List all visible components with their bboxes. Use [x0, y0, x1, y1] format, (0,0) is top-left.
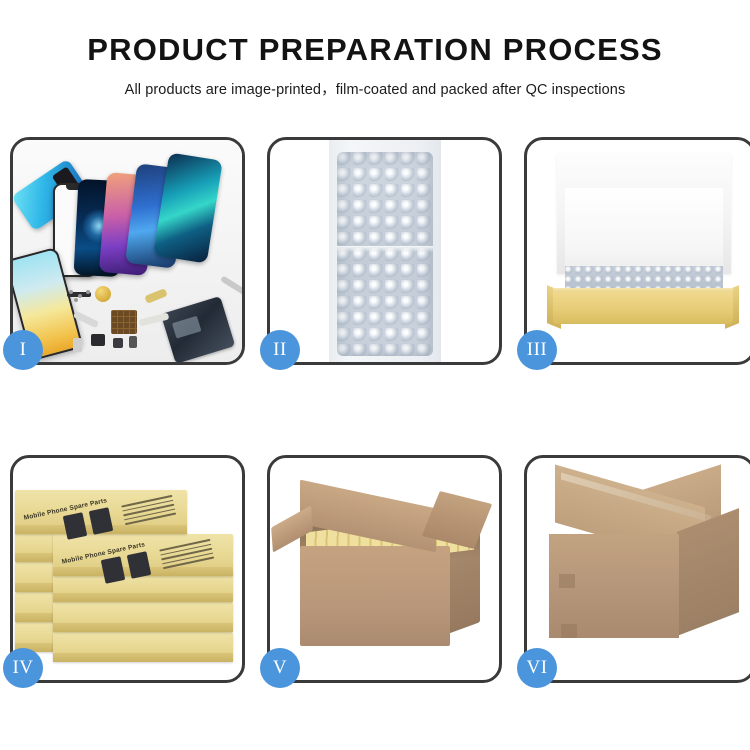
page-header: PRODUCT PREPARATION PROCESS All products…	[0, 0, 750, 99]
step-badge-5: V	[260, 648, 300, 688]
label-spec-lines-front	[159, 539, 215, 572]
foam-padding-icon	[565, 188, 723, 276]
page-title: PRODUCT PREPARATION PROCESS	[0, 34, 750, 67]
retail-box-layer-3b	[53, 572, 233, 602]
sealed-carton-side-face-icon	[677, 508, 739, 636]
step-4-illustration: Mobile Phone Spare Parts Mobile Phone Sp…	[13, 458, 242, 680]
retail-box-layer-5b	[53, 632, 233, 662]
page-subtitle: All products are image-printed，film-coat…	[0, 78, 750, 99]
step-panel-3[interactable]: III	[524, 137, 750, 365]
step-badge-2: II	[260, 330, 300, 370]
flex-cable-a-icon	[73, 311, 99, 329]
retail-box-label-top: Mobile Phone Spare Parts	[15, 490, 187, 534]
retail-box-labeled-front: Mobile Phone Spare Parts	[53, 534, 233, 576]
step-5-illustration	[270, 458, 499, 680]
step-panel-4[interactable]: Mobile Phone Spare Parts Mobile Phone Sp…	[10, 455, 245, 683]
label-screen-thumb-1-icon	[101, 556, 126, 584]
label-spec-lines-top	[121, 495, 177, 528]
retail-box-labeled-top: Mobile Phone Spare Parts	[15, 490, 187, 534]
camera-module-icon	[113, 338, 123, 348]
process-steps-grid: I II III	[10, 137, 740, 683]
retail-box-label-front: Mobile Phone Spare Parts	[53, 534, 233, 576]
label-screen-thumb-2-icon	[127, 551, 152, 579]
step-1-illustration	[13, 140, 242, 362]
step-2-illustration	[270, 140, 499, 362]
step-panel-5[interactable]: V	[267, 455, 502, 683]
logic-board-icon	[161, 296, 235, 362]
mesh-grid-icon	[111, 310, 137, 334]
step-badge-3: III	[517, 330, 557, 370]
step-badge-1: I	[3, 330, 43, 370]
flex-cable-c-icon	[144, 288, 167, 304]
step-badge-6: VI	[517, 648, 557, 688]
retail-box-layer-4b	[53, 602, 233, 632]
step-3-illustration	[527, 140, 750, 362]
step-6-illustration	[527, 458, 750, 680]
sealed-carton-mark-upper-icon	[559, 574, 575, 588]
step-panel-1[interactable]: I	[10, 137, 245, 365]
sim-tray-icon	[73, 338, 82, 352]
mailer-front-panel-icon	[553, 292, 733, 324]
step-badge-4: IV	[3, 648, 43, 688]
spare-parts-cluster	[69, 290, 242, 362]
label-screen-thumb-3-icon	[63, 512, 88, 540]
button-part-icon	[129, 336, 137, 348]
step-panel-6[interactable]: VI	[524, 455, 750, 683]
step-panel-2[interactable]: II	[267, 137, 502, 365]
taptic-coil-icon	[95, 286, 111, 302]
retail-box-stack: Mobile Phone Spare Parts Mobile Phone Sp…	[15, 472, 241, 672]
speaker-icon	[91, 334, 105, 346]
label-screen-thumb-4-icon	[89, 507, 114, 535]
bubble-wrapped-product-icon	[337, 152, 433, 356]
sealed-carton-mark-lower-icon	[561, 624, 577, 638]
carton-front-face-icon	[300, 546, 450, 646]
